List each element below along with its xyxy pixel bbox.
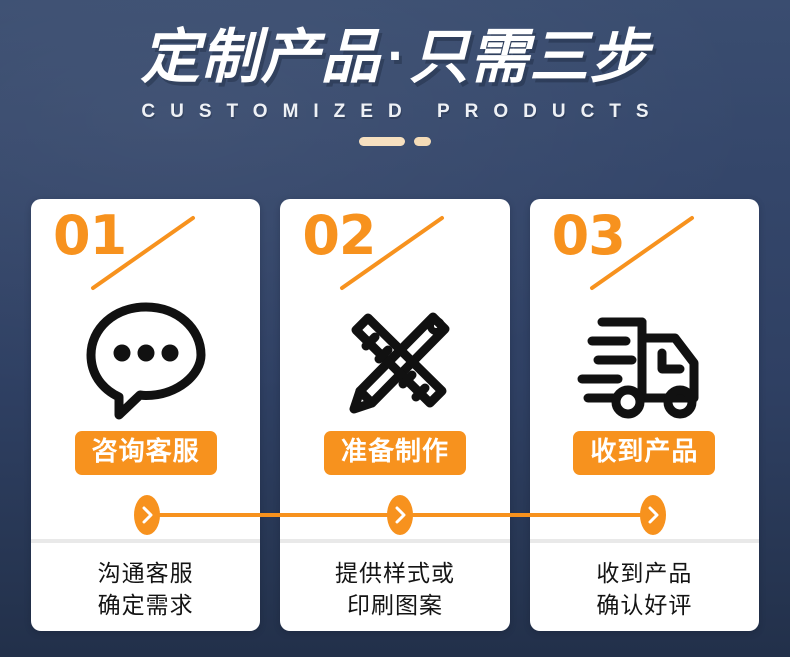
step-label-wrap: 收到产品 [530,431,759,475]
step-arrow-row [530,475,759,539]
step-number-row: 03 [530,199,759,295]
step-description: 收到产品 确认好评 [530,543,759,631]
step-description: 提供样式或 印刷图案 [280,543,509,631]
step-number-row: 02 [280,199,509,295]
step-description-line-1: 收到产品 [530,559,759,591]
step-description-line-2: 印刷图案 [280,591,509,623]
step-description-line-1: 提供样式或 [280,559,509,591]
decorative-dots [0,137,790,146]
step-label-wrap: 准备制作 [280,431,509,475]
step-icon [280,295,509,427]
page-title: 定制产品·只需三步 [0,27,790,87]
step-description-line-1: 沟通客服 [31,559,260,591]
dot-pill-small [414,137,431,146]
diagonal-slash-icon [586,212,698,294]
step-label-badge[interactable]: 咨询客服 [75,431,217,475]
step-label-badge[interactable]: 收到产品 [573,431,715,475]
step-arrow-row [280,475,509,539]
step-label-badge[interactable]: 准备制作 [324,431,466,475]
speech-bubble-icon [84,300,208,422]
diagonal-slash-icon [336,212,448,294]
step-description-line-2: 确定需求 [31,591,260,623]
step-icon [31,295,260,427]
title-separator-dot: · [381,31,410,82]
page-title-part2: 只需三步 [409,22,649,91]
step-description: 沟通客服 确定需求 [31,543,260,631]
banner-header: 定制产品·只需三步 CUSTOMIZED PRODUCTS [0,0,790,182]
step-description-line-2: 确认好评 [530,591,759,623]
step-card-3[interactable]: 03 [530,199,759,631]
diagonal-slash-icon [87,212,199,294]
pencil-ruler-icon [332,299,458,423]
step-cards-row: 01 咨询客服 沟通客服 确定需求 02 [31,199,759,631]
step-card-1[interactable]: 01 咨询客服 沟通客服 确定需求 [31,199,260,631]
step-number-row: 01 [31,199,260,295]
step-icon [530,295,759,427]
step-label-wrap: 咨询客服 [31,431,260,475]
step-card-2[interactable]: 02 准备制作 [280,199,509,631]
delivery-truck-icon [576,303,712,419]
dot-pill-large [359,137,405,146]
page-subtitle: CUSTOMIZED PRODUCTS [0,101,790,123]
step-arrow-row [31,475,260,539]
page-title-part1: 定制产品 [141,22,381,91]
